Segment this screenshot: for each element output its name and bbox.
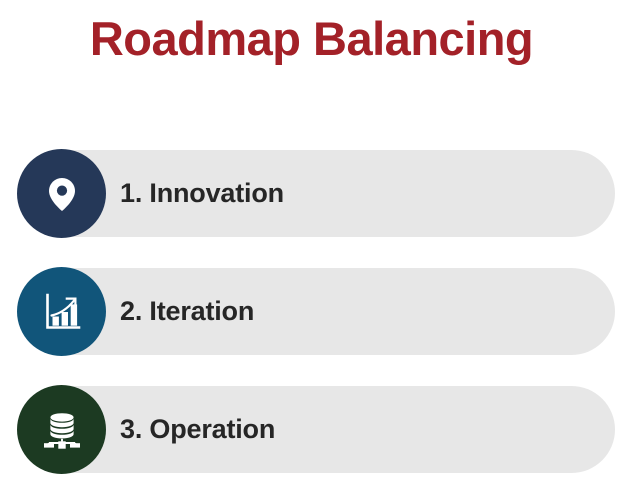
row-bar [22, 150, 615, 237]
list-item[interactable]: 2. Iteration [0, 268, 623, 355]
page-title: Roadmap Balancing [0, 8, 623, 70]
list-item-label: 2. Iteration [120, 268, 254, 355]
list-item-label: 3. Operation [120, 386, 275, 473]
list-item[interactable]: 1. Innovation [0, 150, 623, 237]
location-pin-icon [39, 171, 85, 217]
row-bar [22, 386, 615, 473]
roadmap-list: 1. Innovation [0, 150, 623, 473]
row-bar [22, 268, 615, 355]
row-icon-badge [17, 267, 106, 356]
database-network-icon [39, 407, 85, 453]
row-icon-badge [17, 385, 106, 474]
row-icon-badge [17, 149, 106, 238]
slide-canvas: Roadmap Balancing 1. Innovation [0, 0, 623, 489]
list-item-label: 1. Innovation [120, 150, 284, 237]
growth-chart-icon [39, 289, 85, 335]
list-item[interactable]: 3. Operation [0, 386, 623, 473]
